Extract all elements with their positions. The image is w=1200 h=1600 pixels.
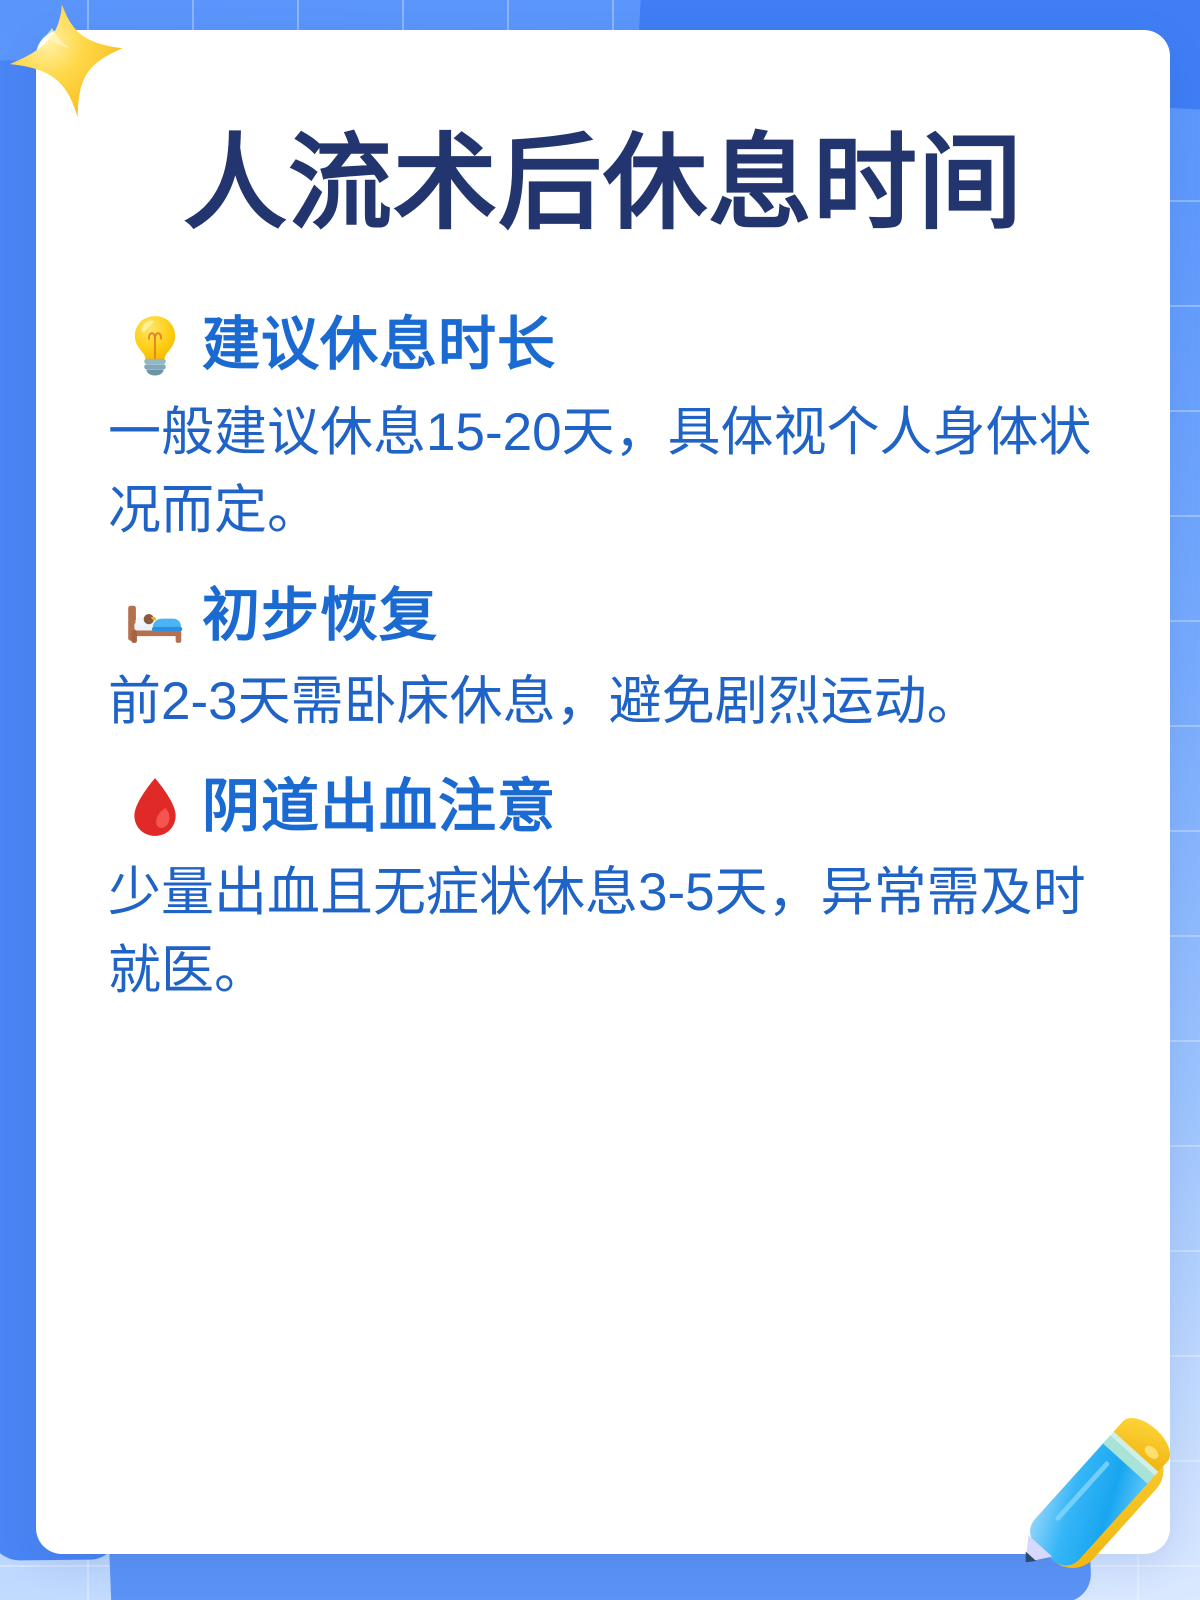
section-list: 建议休息时长 一般建议休息15-20天，具体视个人身体状况而定。	[36, 240, 1170, 1009]
section-body: 前2-3天需卧床休息，避免剧烈运动。	[104, 663, 1102, 740]
sparkle-star-icon	[4, 2, 132, 122]
poster-root: 人流术后休息时间	[0, 0, 1200, 1600]
section-vaginal-bleeding-notice: 阴道出血注意 少量出血且无症状休息3-5天，异常需及时就医。	[104, 774, 1102, 1009]
card-inner: 人流术后休息时间	[36, 30, 1170, 1043]
person-in-bed-icon	[122, 583, 188, 649]
section-header: 阴道出血注意	[122, 774, 1102, 840]
page-title: 人流术后休息时间	[36, 30, 1170, 240]
section-header: 建议休息时长	[122, 312, 1102, 378]
section-body: 少量出血且无症状休息3-5天，异常需及时就医。	[104, 854, 1102, 1009]
section-header: 初步恢复	[122, 583, 1102, 649]
section-heading: 初步恢复	[202, 587, 438, 645]
section-body: 一般建议休息15-20天，具体视个人身体状况而定。	[104, 394, 1102, 549]
content-card: 人流术后休息时间	[36, 30, 1170, 1554]
section-suggested-rest-duration: 建议休息时长 一般建议休息15-20天，具体视个人身体状况而定。	[104, 312, 1102, 549]
drop-of-blood-icon	[122, 774, 188, 840]
section-heading: 阴道出血注意	[202, 778, 556, 836]
section-initial-recovery: 初步恢复 前2-3天需卧床休息，避免剧烈运动。	[104, 583, 1102, 740]
light-bulb-icon	[122, 312, 188, 378]
section-heading: 建议休息时长	[202, 316, 556, 374]
pencil-icon	[1006, 1409, 1196, 1594]
